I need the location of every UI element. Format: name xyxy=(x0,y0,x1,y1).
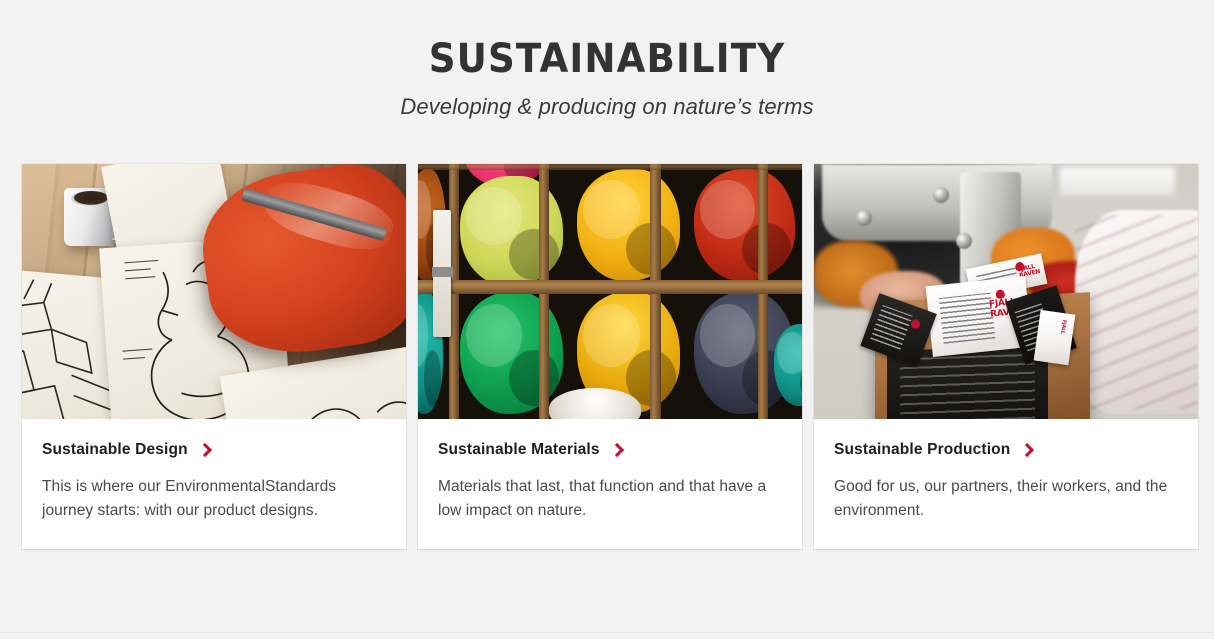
card-sustainable-materials[interactable]: Sustainable Materials Materials that las… xyxy=(418,164,802,549)
card-body-sustainable-design: Sustainable Design This is where our Env… xyxy=(22,419,406,549)
card-heading-sustainable-design[interactable]: Sustainable Design xyxy=(42,441,386,459)
chevron-right-icon xyxy=(1020,444,1032,456)
chevron-right-icon xyxy=(610,444,622,456)
bottom-divider xyxy=(0,632,1214,633)
sustainability-card-grid: Sustainable Design This is where our Env… xyxy=(22,164,1198,549)
card-description-sustainable-materials: Materials that last, that function and t… xyxy=(438,475,782,523)
chevron-right-icon xyxy=(198,444,210,456)
card-body-sustainable-materials: Sustainable Materials Materials that las… xyxy=(418,419,802,549)
card-heading-label: Sustainable Design xyxy=(42,441,188,459)
card-heading-sustainable-materials[interactable]: Sustainable Materials xyxy=(438,441,782,459)
card-body-sustainable-production: Sustainable Production Good for us, our … xyxy=(814,419,1198,549)
card-sustainable-design[interactable]: Sustainable Design This is where our Env… xyxy=(22,164,406,549)
brand-line-1: FJALL xyxy=(1059,319,1067,334)
card-image-sustainable-production: FJALL RAVEN FJALL RAVEN xyxy=(814,164,1198,419)
card-image-sustainable-materials xyxy=(418,164,802,419)
card-heading-sustainable-production[interactable]: Sustainable Production xyxy=(834,441,1178,459)
card-sustainable-production[interactable]: FJALL RAVEN FJALL RAVEN xyxy=(814,164,1198,549)
page-header: SUSTAINABILITY Developing & producing on… xyxy=(0,0,1214,120)
card-heading-label: Sustainable Materials xyxy=(438,441,600,459)
card-image-sustainable-design xyxy=(22,164,406,419)
page-title: SUSTAINABILITY xyxy=(42,38,1171,80)
card-description-sustainable-design: This is where our EnvironmentalStandards… xyxy=(42,475,386,523)
card-description-sustainable-production: Good for us, our partners, their workers… xyxy=(834,475,1178,523)
card-heading-label: Sustainable Production xyxy=(834,441,1010,459)
page-subtitle: Developing & producing on nature’s terms xyxy=(0,94,1214,120)
